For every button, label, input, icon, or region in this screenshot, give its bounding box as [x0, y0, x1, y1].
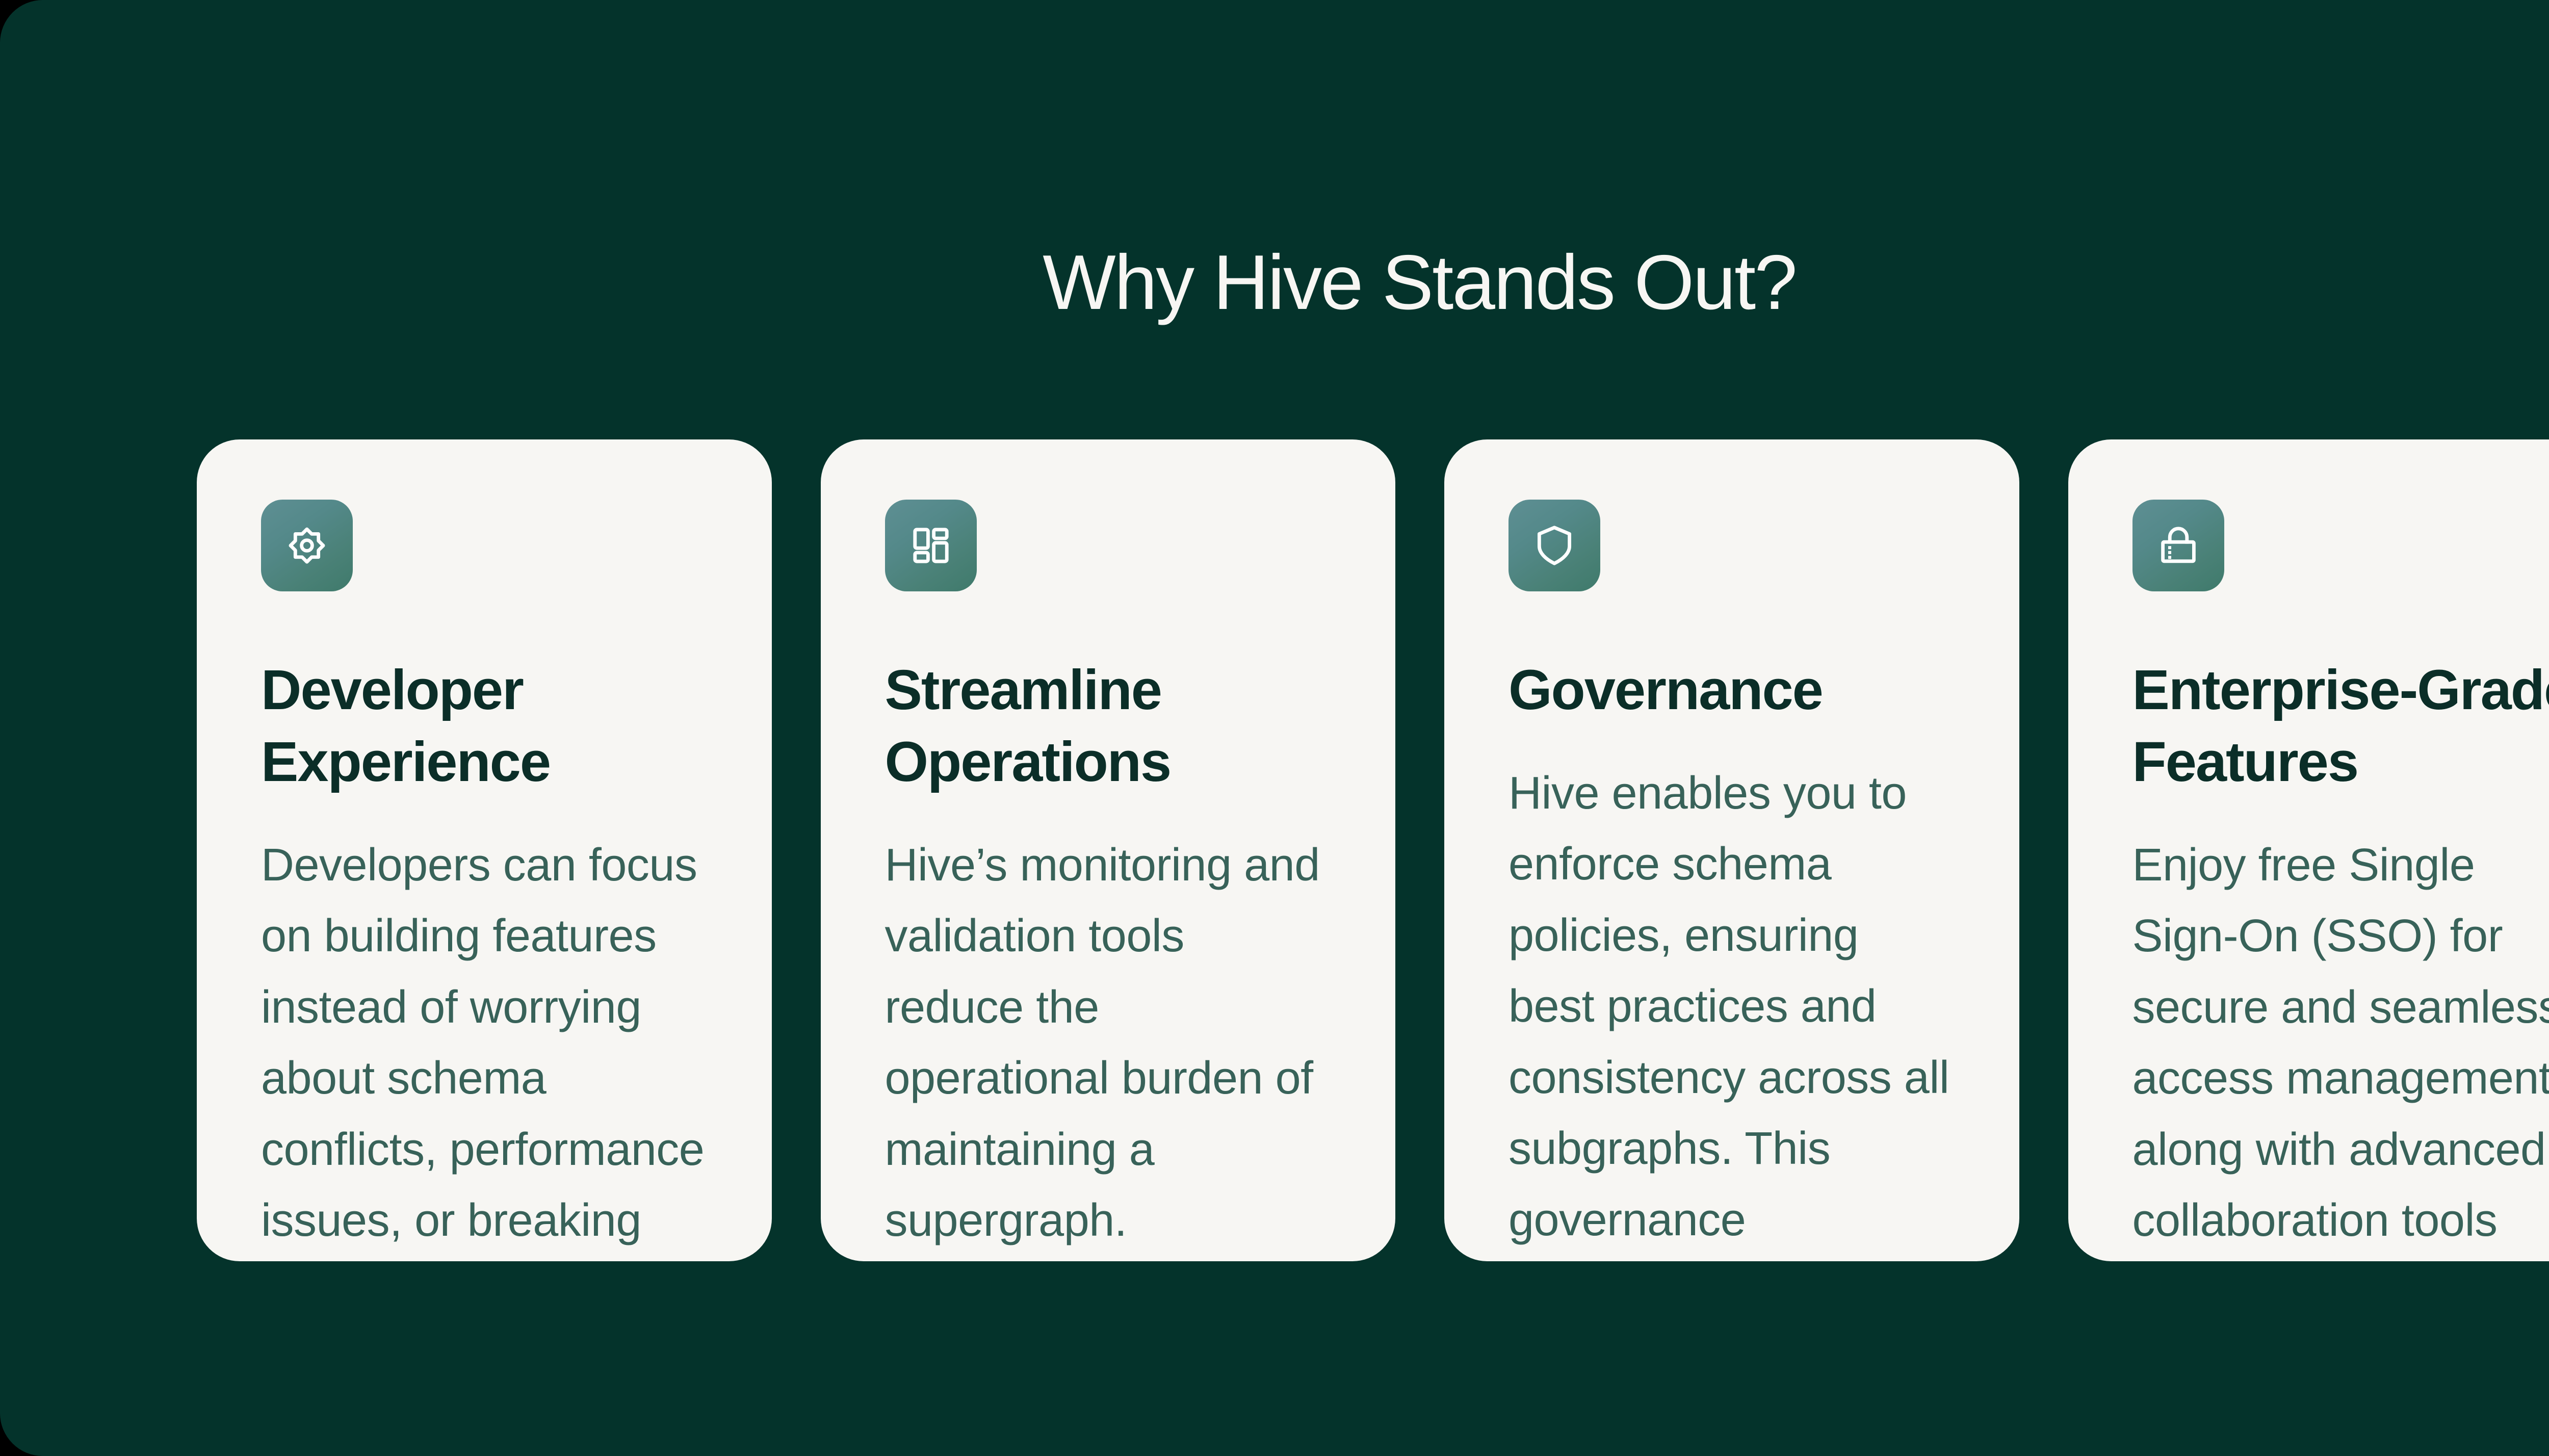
lock-icon-tile	[2132, 500, 2224, 591]
card-body: Hive enables you to enforce schema polic…	[1508, 758, 1955, 1261]
card-title: Developer Experience	[261, 655, 708, 798]
dashboard-layout-icon	[906, 521, 955, 570]
card-title: Enterprise-Grade Features	[2132, 655, 2549, 798]
card-title: Streamline Operations	[885, 655, 1332, 798]
card-body: Developers can focus on building feature…	[261, 830, 708, 1261]
gear-settings-icon	[282, 521, 331, 570]
page-root: Why Hive Stands Out? Developer Experienc…	[0, 0, 2549, 1456]
feature-card-streamline-operations[interactable]: Streamline Operations Hive’s monitoring …	[821, 439, 1396, 1261]
feature-card-grid: Developer Experience Developers can focu…	[197, 439, 2549, 1261]
page-title: Why Hive Stands Out?	[0, 244, 2549, 321]
gear-settings-icon-tile	[261, 500, 353, 591]
feature-card-governance[interactable]: Governance Hive enables you to enforce s…	[1444, 439, 2019, 1261]
shield-icon	[1530, 521, 1579, 570]
shield-icon-tile	[1508, 500, 1600, 591]
card-title: Governance	[1508, 655, 1823, 726]
card-body: Enjoy free Single Sign-On (SSO) for secu…	[2132, 830, 2549, 1261]
dashboard-layout-icon-tile	[885, 500, 977, 591]
card-body: Hive’s monitoring and validation tools r…	[885, 830, 1332, 1257]
feature-card-developer-experience[interactable]: Developer Experience Developers can focu…	[197, 439, 772, 1261]
feature-card-enterprise-grade-features[interactable]: Enterprise-Grade Features Enjoy free Sin…	[2068, 439, 2549, 1261]
lock-icon	[2154, 521, 2203, 570]
